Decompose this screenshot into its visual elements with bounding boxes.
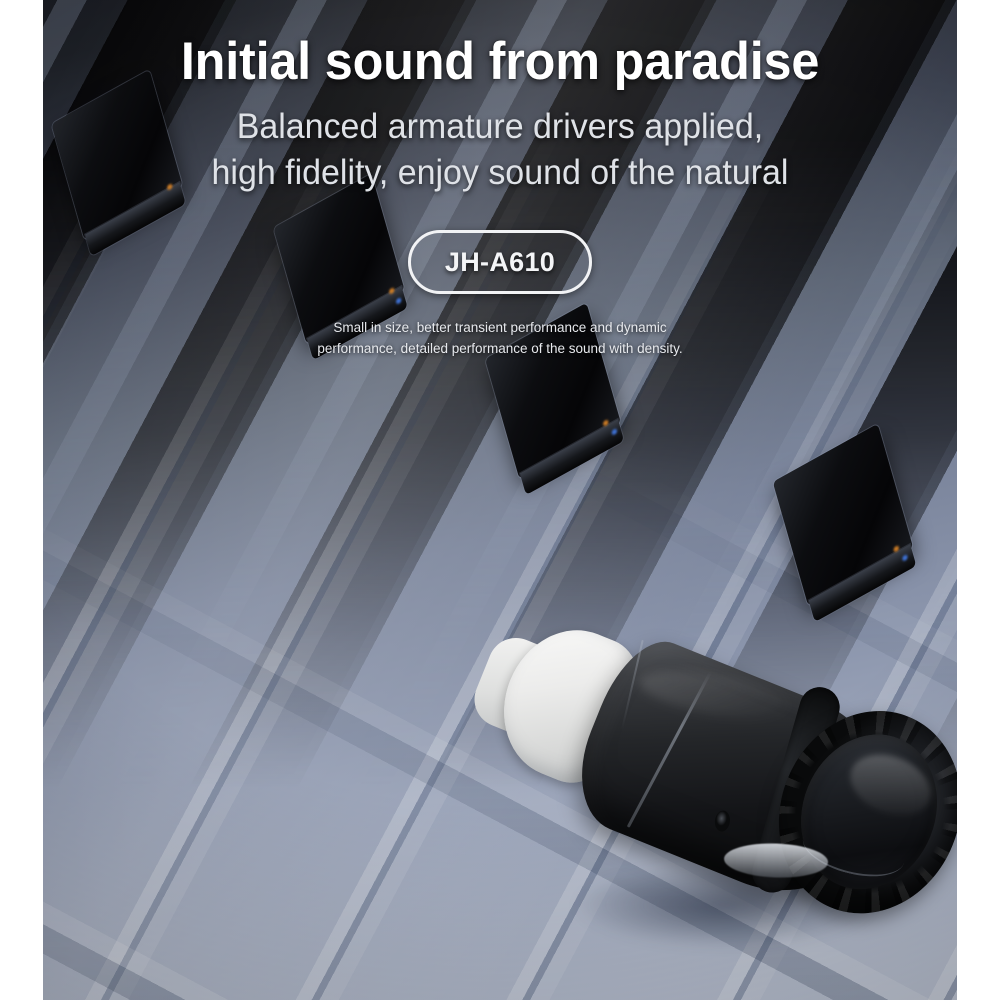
product-banner: Initial sound from paradise Balanced arm… [0, 0, 1000, 1000]
subtitle: Balanced armature drivers applied, high … [15, 104, 985, 196]
model-badge: JH-A610 [408, 230, 592, 294]
description-line-2: performance, detailed performance of the… [0, 339, 1000, 360]
page-title: Initial sound from paradise [25, 34, 975, 90]
subtitle-line-1: Balanced armature drivers applied, [15, 104, 985, 150]
subtitle-line-2: high fidelity, enjoy sound of the natura… [15, 150, 985, 196]
text-overlay: Initial sound from paradise Balanced arm… [0, 0, 1000, 1000]
description-line-1: Small in size, better transient performa… [0, 318, 1000, 339]
description: Small in size, better transient performa… [0, 318, 1000, 360]
model-badge-container: JH-A610 [0, 230, 1000, 294]
